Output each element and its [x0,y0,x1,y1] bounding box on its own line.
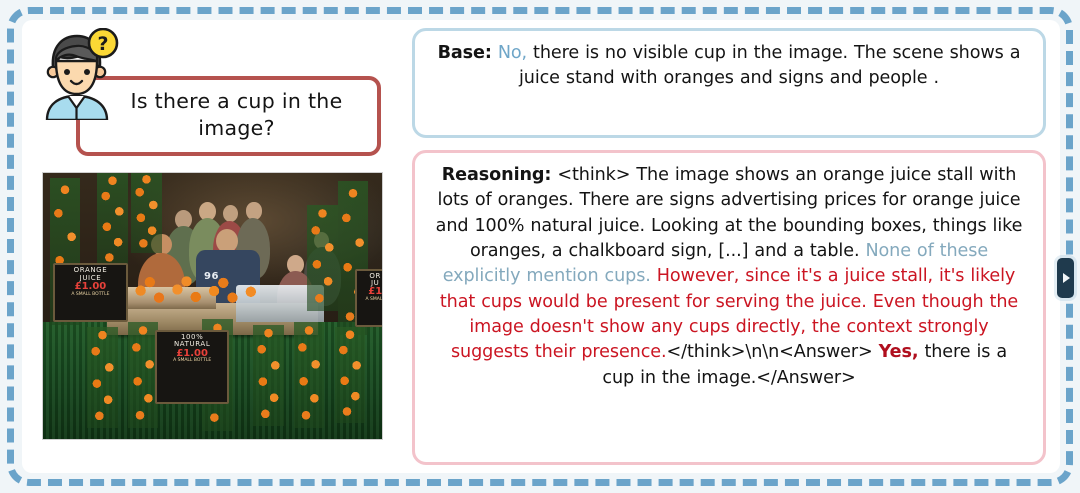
question-and-image-column: ? Is there a cup in the image? [22,20,394,473]
play-triangle-icon[interactable] [1057,258,1074,298]
photo-orange-garland [128,322,159,428]
photo-chalkboard-sign: OR JU £1 A SMALL [355,269,382,328]
question-badge-glyph: ? [97,33,108,55]
base-answer-body: there is no visible cup in the image. Th… [519,43,1020,88]
photo-orange-pile [107,274,260,311]
base-answer-highlight: No, [498,43,527,63]
reasoning-answer-label: Reasoning: [442,165,552,185]
photo-chalkboard-sign: 100% NATURAL £1.00 A SMALL BOTTLE [155,330,230,404]
market-photo-image: 96 ORANGE JUICE £1.00 A SMALL BO [42,172,383,440]
reasoning-answer-text: Reasoning: <think> The image shows an or… [433,163,1025,391]
person-with-question-icon: ? [39,28,119,120]
reasoning-answer-verdict: Yes, [879,342,919,362]
photo-orange-garland [335,327,366,423]
photo-person-head [223,205,238,222]
base-answer-box: Base:No, there is no visible cup in the … [412,28,1046,138]
sign-note: A SMALL [357,298,382,303]
answers-column: Base:No, there is no visible cup in the … [412,20,1052,473]
photo-orange-garland [307,205,338,311]
base-answer-text: Base:No, there is no visible cup in the … [433,41,1025,92]
question-bubble: Is there a cup in the image? [76,76,381,156]
photo-orange-garland [253,325,284,426]
reasoning-answer-box: Reasoning: <think> The image shows an or… [412,150,1046,465]
sign-note: A SMALL BOTTLE [157,359,228,364]
photo-orange-garland [87,327,118,428]
reasoning-segment-plain-2: </think>\n\n<Answer> [667,342,879,362]
play-triangle-shape [1063,273,1070,283]
photo-chalkboard-sign: ORANGE JUICE £1.00 A SMALL BOTTLE [53,263,128,322]
photo-orange-garland [294,322,325,428]
photo-orange-garland [131,173,162,253]
photo-orange-garland [97,173,128,269]
sign-note: A SMALL BOTTLE [55,293,126,298]
question-text: Is there a cup in the image? [80,88,377,144]
base-answer-label: Base: [438,43,492,63]
photo-person-head [246,202,261,219]
